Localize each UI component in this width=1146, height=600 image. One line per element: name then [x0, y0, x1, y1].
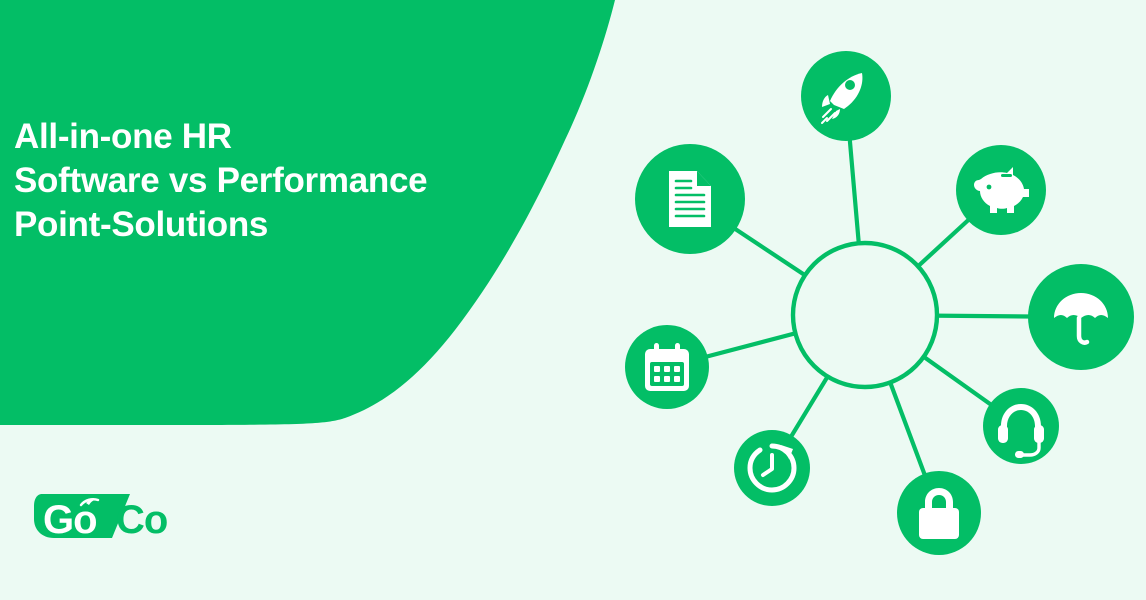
headline-line-2: Software vs Performance: [14, 159, 554, 203]
node-support[interactable]: [983, 388, 1059, 464]
headline-line-1: All-in-one HR: [14, 115, 554, 159]
node-benefits[interactable]: [1028, 264, 1134, 370]
document-icon: [669, 171, 711, 227]
node-onboarding[interactable]: [801, 51, 891, 141]
page-title: All-in-one HR Software vs Performance Po…: [14, 115, 554, 247]
hr-hub-and-spoke-diagram: [596, 10, 1146, 590]
hero-banner: All-in-one HR Software vs Performance Po…: [0, 0, 1146, 600]
node-time-tracking[interactable]: [734, 430, 810, 506]
node-documents[interactable]: [635, 144, 745, 254]
node-time-off[interactable]: [625, 325, 709, 409]
goco-logo[interactable]: Go Co: [24, 486, 184, 546]
calendar-icon: [645, 343, 689, 391]
hub-circle: [793, 243, 937, 387]
logo-word-text: Co: [116, 498, 167, 542]
headline-line-3: Point-Solutions: [14, 203, 554, 247]
node-compliance[interactable]: [897, 471, 981, 555]
node-payroll[interactable]: [956, 145, 1046, 235]
